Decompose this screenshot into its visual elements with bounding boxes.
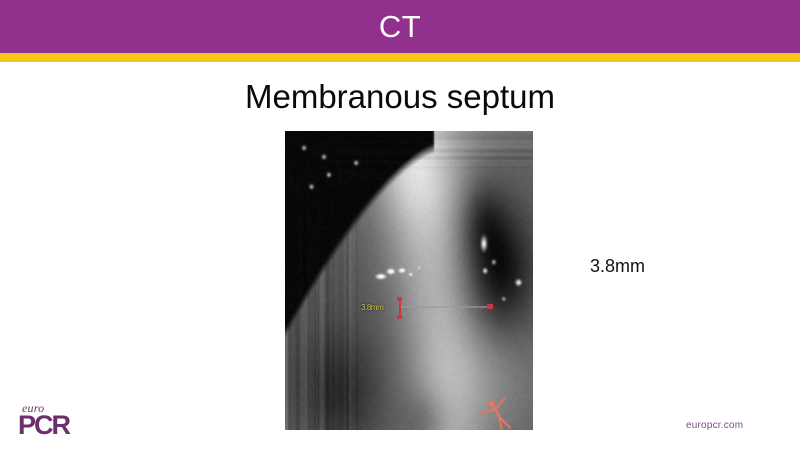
ct-scan-image: 3.8mm	[285, 131, 533, 430]
measurement-value-annotation: 3.8mm	[590, 256, 645, 277]
header-accent-stripe	[0, 53, 800, 62]
europcr-logo-pcr-text: PCR	[18, 412, 69, 439]
europcr-logo: euro PCR	[18, 400, 88, 444]
footer-website-link[interactable]: europcr.com	[686, 420, 743, 431]
page-title: CT	[0, 0, 800, 53]
slide-title: Membranous septum	[0, 79, 800, 115]
ct-scan-canvas	[285, 131, 533, 430]
